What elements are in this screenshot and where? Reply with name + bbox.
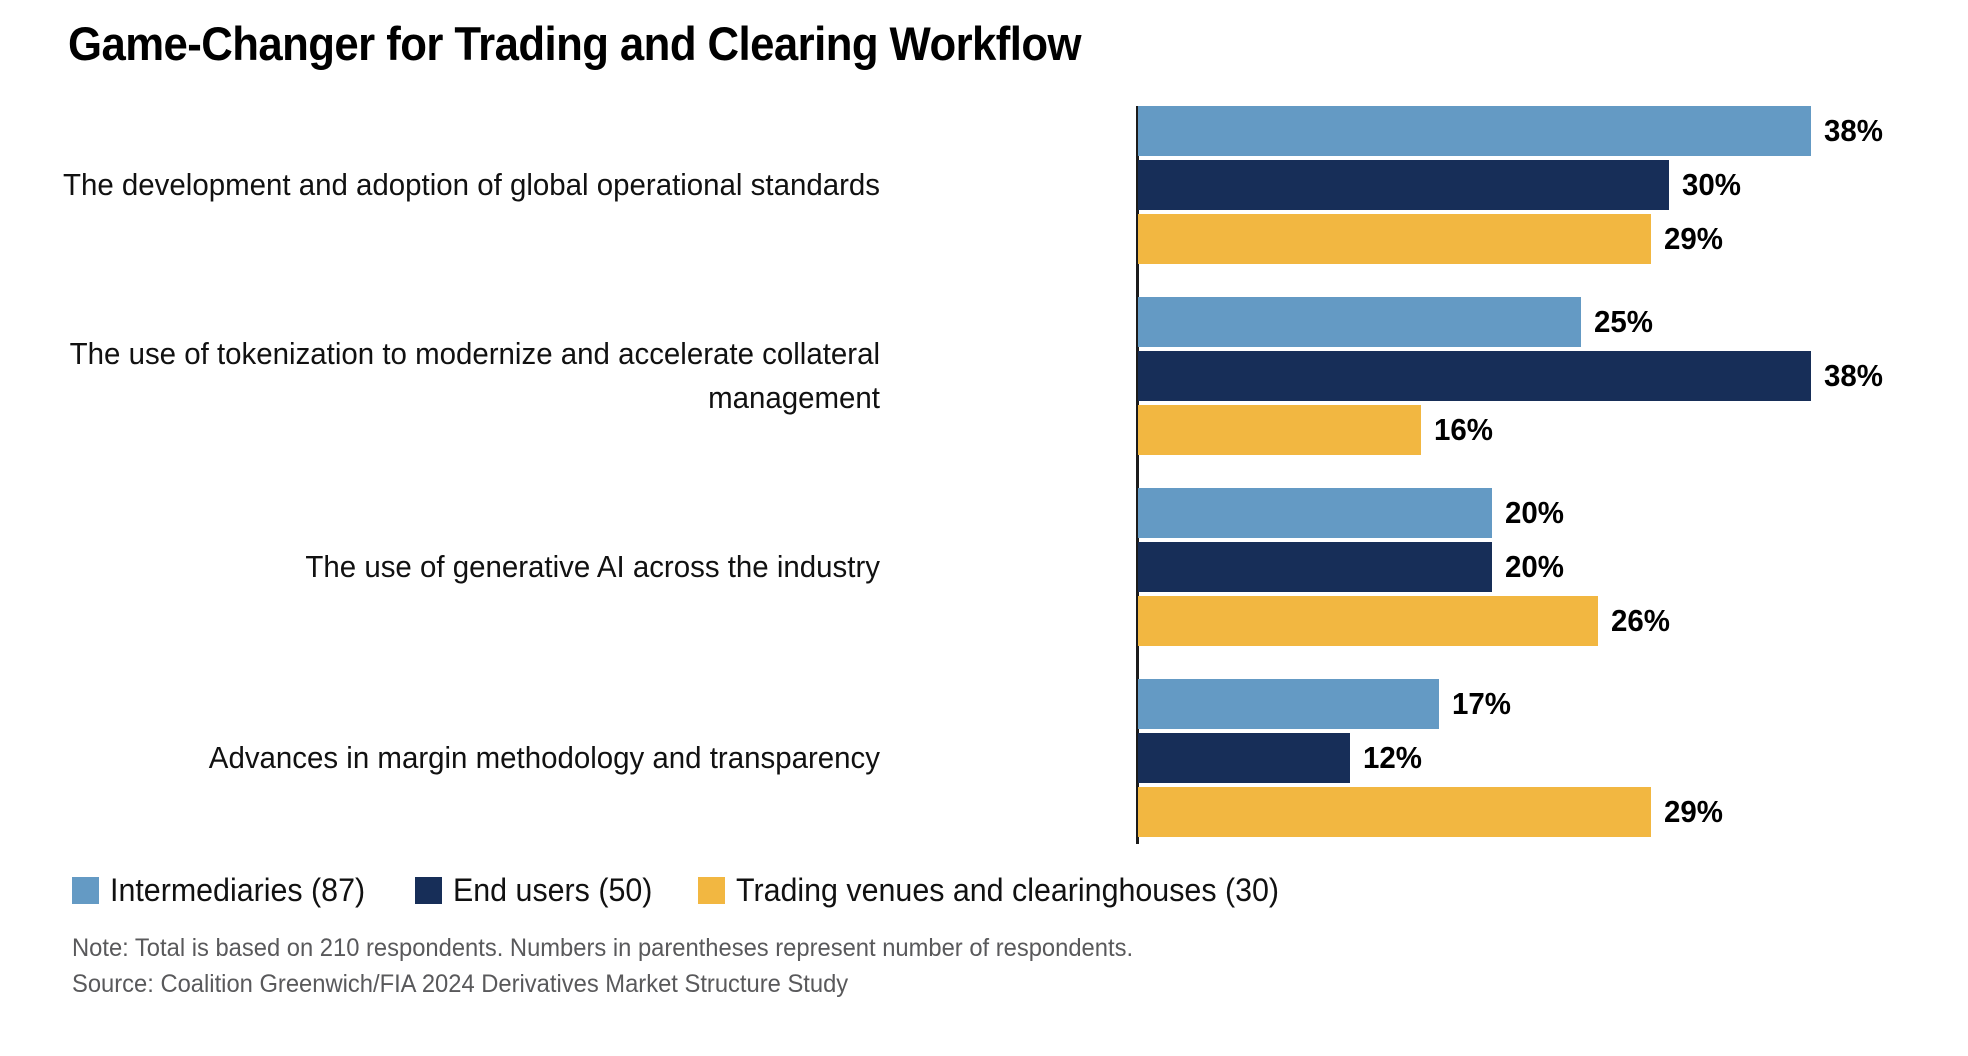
bar-series-3	[1138, 214, 1651, 264]
bar-value-label: 20%	[1505, 549, 1564, 585]
bar-row: 20%	[1138, 542, 1567, 592]
category-label: The development and adoption of global o…	[0, 163, 880, 207]
category-label-line: The use of tokenization to modernize and…	[0, 332, 880, 376]
bar-series-3	[1138, 596, 1598, 646]
legend-label: End users (50)	[453, 872, 652, 909]
bar-series-2	[1138, 542, 1492, 592]
bar-group: The use of generative AI across the indu…	[0, 488, 1968, 646]
bar-series-1	[1138, 679, 1439, 729]
bar-value-label: 17%	[1452, 686, 1511, 722]
bar-row: 12%	[1138, 733, 1425, 783]
plot-area: The development and adoption of global o…	[0, 100, 1968, 845]
bar-series-2	[1138, 733, 1350, 783]
bar-group: Advances in margin methodology and trans…	[0, 679, 1968, 837]
chart-container: Game-Changer for Trading and Clearing Wo…	[0, 0, 1968, 1056]
category-label-line: The development and adoption of global o…	[0, 163, 880, 207]
footnote-note: Note: Total is based on 210 respondents.…	[72, 930, 1133, 966]
bar-row: 17%	[1138, 679, 1514, 729]
bar-value-label: 38%	[1824, 358, 1883, 394]
bar-series-1	[1138, 106, 1811, 156]
bar-value-label: 16%	[1434, 412, 1493, 448]
bar-series-3	[1138, 787, 1651, 837]
bar-row: 38%	[1138, 351, 1886, 401]
bar-group: The development and adoption of global o…	[0, 106, 1968, 264]
bar-series-2	[1138, 351, 1811, 401]
bar-row: 38%	[1138, 106, 1886, 156]
chart-legend: Intermediaries (87)End users (50)Trading…	[72, 872, 1344, 909]
bar-series-1	[1138, 297, 1581, 347]
legend-swatch-icon	[698, 877, 725, 904]
legend-label: Trading venues and clearinghouses (30)	[736, 872, 1279, 909]
bar-row: 29%	[1138, 787, 1726, 837]
category-label: The use of generative AI across the indu…	[0, 545, 880, 589]
bar-row: 29%	[1138, 214, 1726, 264]
bar-value-label: 29%	[1664, 794, 1723, 830]
legend-item[interactable]: End users (50)	[415, 872, 663, 909]
bar-value-label: 20%	[1505, 495, 1564, 531]
bar-row: 26%	[1138, 596, 1673, 646]
footnote-source: Source: Coalition Greenwich/FIA 2024 Der…	[72, 966, 1133, 1002]
legend-item[interactable]: Trading venues and clearinghouses (30)	[698, 872, 1308, 909]
category-label-line: The use of generative AI across the indu…	[0, 545, 880, 589]
category-label-line: Advances in margin methodology and trans…	[0, 736, 880, 780]
bar-series-1	[1138, 488, 1492, 538]
bar-group: The use of tokenization to modernize and…	[0, 297, 1968, 455]
bar-row: 25%	[1138, 297, 1656, 347]
legend-swatch-icon	[72, 877, 99, 904]
legend-label: Intermediaries (87)	[110, 872, 365, 909]
bar-value-label: 25%	[1594, 304, 1653, 340]
category-label-line: management	[0, 376, 880, 420]
bar-series-3	[1138, 405, 1421, 455]
bar-series-2	[1138, 160, 1669, 210]
bar-value-label: 29%	[1664, 221, 1723, 257]
bar-value-label: 30%	[1682, 167, 1741, 203]
category-label: The use of tokenization to modernize and…	[0, 332, 880, 420]
chart-footnotes: Note: Total is based on 210 respondents.…	[72, 930, 1189, 1002]
bar-row: 16%	[1138, 405, 1496, 455]
category-label: Advances in margin methodology and trans…	[0, 736, 880, 780]
bar-row: 30%	[1138, 160, 1744, 210]
chart-title: Game-Changer for Trading and Clearing Wo…	[68, 16, 1081, 71]
legend-item[interactable]: Intermediaries (87)	[72, 872, 379, 909]
bar-value-label: 26%	[1611, 603, 1670, 639]
legend-swatch-icon	[415, 877, 442, 904]
bar-row: 20%	[1138, 488, 1567, 538]
bar-value-label: 12%	[1363, 740, 1422, 776]
bar-value-label: 38%	[1824, 113, 1883, 149]
